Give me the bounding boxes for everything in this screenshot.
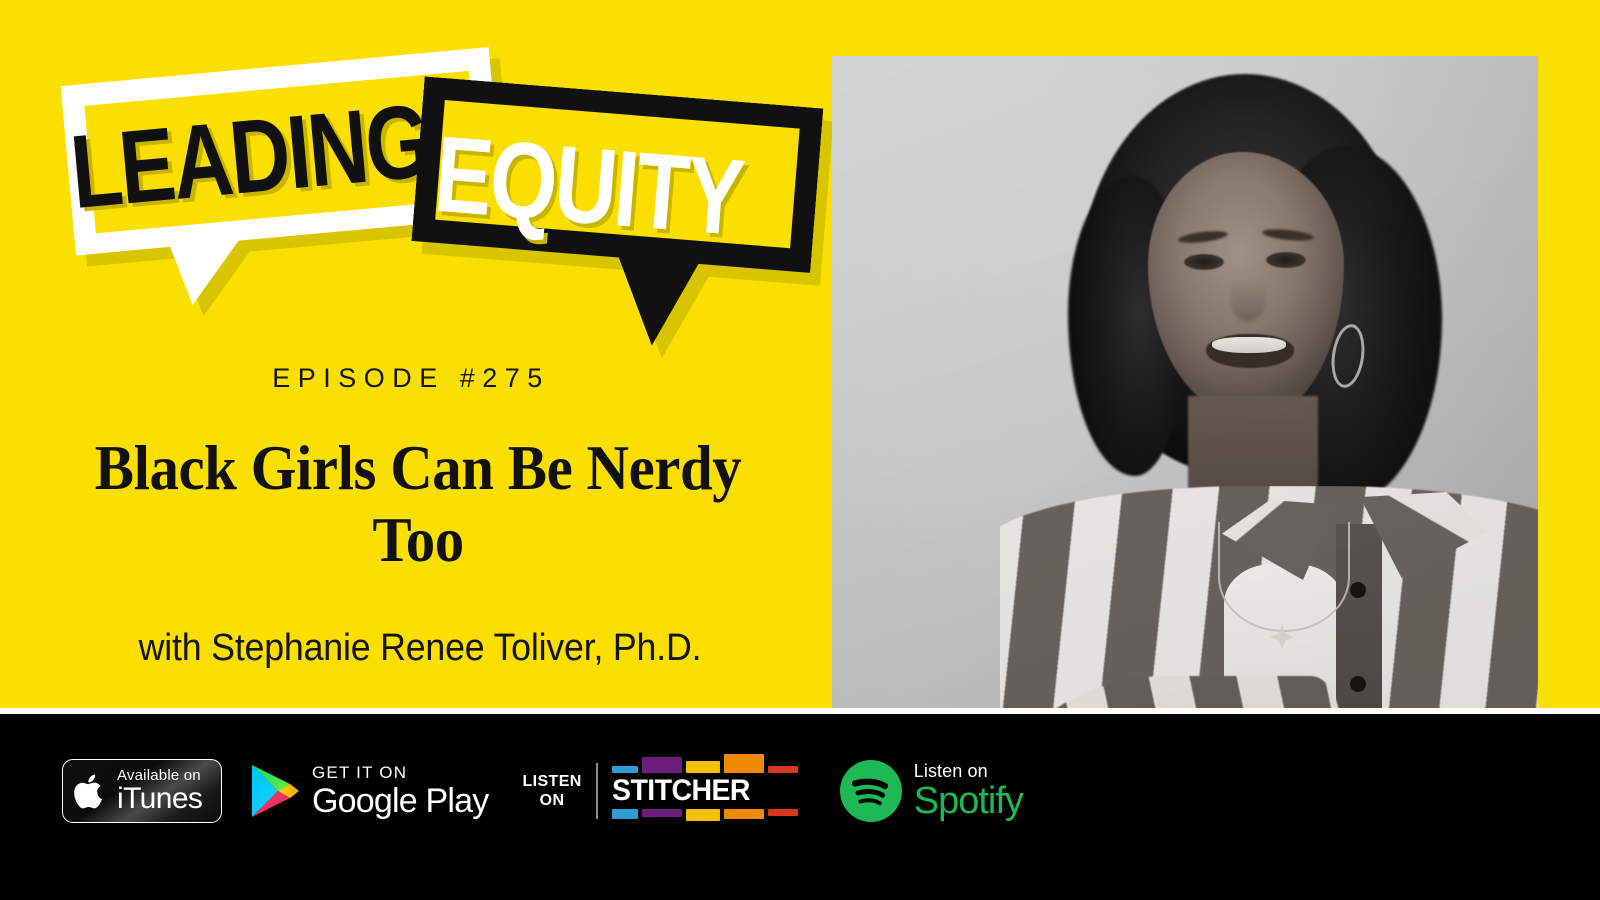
google-play-get-it-on-text: GET IT ON [312,764,488,781]
spotify-badge[interactable]: Listen on Spotify [840,760,1023,822]
episode-guest-line: with Stephanie Renee Toliver, Ph.D. [44,625,796,671]
stitcher-bars-top [612,757,798,773]
equity-word: EQUITY [440,112,737,259]
google-play-triangle-icon [248,763,300,819]
listen-badges-row: Available on iTunes [62,756,1023,826]
stitcher-bar [642,809,682,817]
stitcher-bar [768,809,798,816]
episode-number-label: EPISODE #275 [0,363,822,394]
leading-equity-logo: LEADING LEADING EQUITY EQUITY [62,56,802,366]
stitcher-wordmark-group: STITCHER [612,757,798,825]
stitcher-bars-bottom [612,809,798,825]
spotify-listen-on-text: Listen on [914,762,1023,780]
itunes-available-text: Available on [117,768,202,783]
stitcher-listen-line1: LISTEN [522,772,581,791]
stitcher-listen-line2: ON [522,791,581,810]
google-play-label-group: GET IT ON Google Play [312,764,488,818]
stitcher-bar [724,809,764,819]
stitcher-badge[interactable]: LISTEN ON STITCHER [522,757,797,825]
spotify-wordmark: Spotify [914,782,1023,820]
stitcher-listen-on-label: LISTEN ON [522,772,581,810]
equity-speech-bubble: EQUITY EQUITY [405,76,824,357]
episode-title: Black Girls Can Be Nerdy Too [70,432,766,576]
stitcher-bar [724,754,764,773]
google-play-wordmark: Google Play [312,784,488,818]
stitcher-divider [596,763,598,819]
spotify-icon [840,760,902,822]
stitcher-bar [612,766,638,773]
stitcher-bar [686,761,720,773]
apple-icon [73,770,109,812]
itunes-wordmark: iTunes [117,784,202,814]
itunes-label-group: Available on iTunes [117,768,202,814]
google-play-badge[interactable]: GET IT ON Google Play [248,763,488,819]
stitcher-bar [642,757,682,773]
stitcher-wordmark: STITCHER [612,776,789,806]
spotify-label-group: Listen on Spotify [914,762,1023,820]
stitcher-bar [612,809,638,819]
stitcher-bar [768,766,798,773]
itunes-badge[interactable]: Available on iTunes [62,759,222,823]
stitcher-bar [686,809,720,821]
podcast-cover-canvas: LEADING LEADING EQUITY EQUITY EPISODE #2… [0,0,1600,900]
